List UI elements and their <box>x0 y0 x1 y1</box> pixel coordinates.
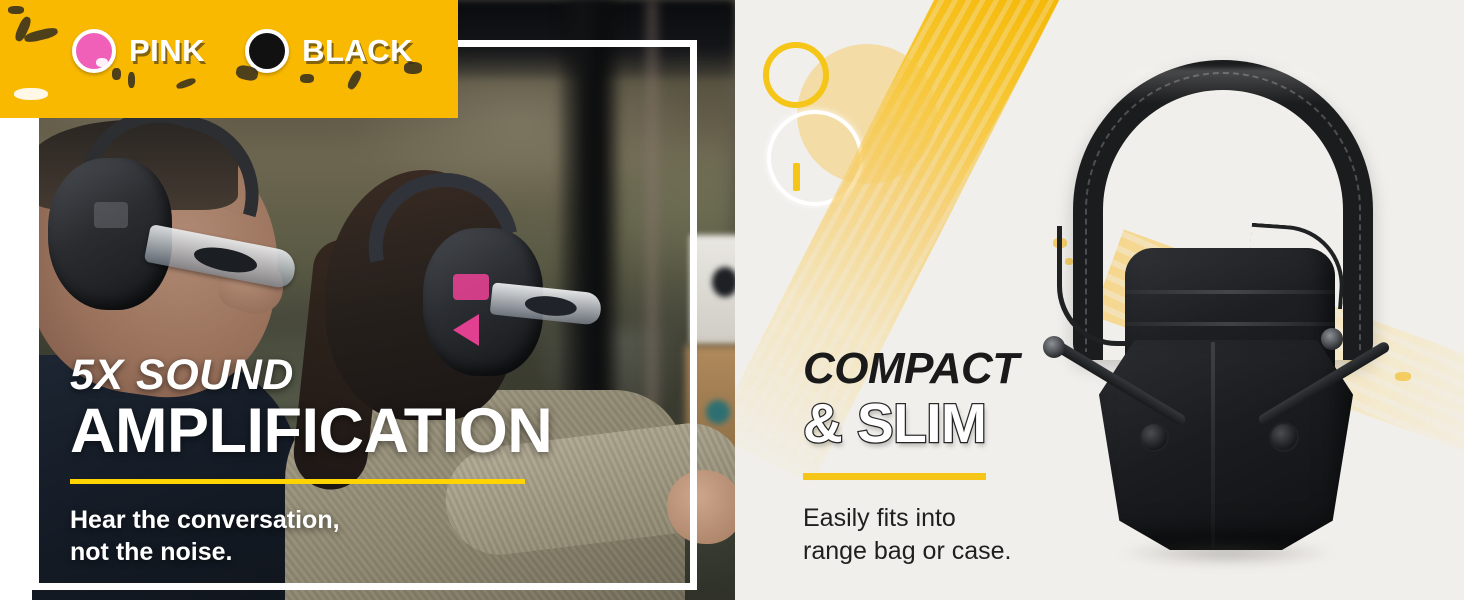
black-color-label: BLACK <box>302 33 413 69</box>
right-headline: & SLIM <box>803 395 1123 453</box>
product-cup-ridge <box>1125 322 1335 326</box>
left-kicker: 5X SOUND <box>70 354 610 397</box>
right-copy-block: COMPACT & SLIM Easily fits into range ba… <box>803 347 1123 568</box>
earmuff-triangle-accent-icon <box>453 314 479 346</box>
right-subtext: Easily fits into range bag or case. <box>803 502 1123 568</box>
color-option-black[interactable]: BLACK <box>245 29 413 73</box>
earmuff-brand-logo <box>453 274 489 300</box>
product-hinge-right <box>1321 328 1343 350</box>
right-subtext-line2: range bag or case. <box>803 537 1011 565</box>
black-color-swatch[interactable] <box>245 29 289 73</box>
left-accent-rule <box>70 479 525 484</box>
yellow-bar <box>793 163 800 191</box>
product-drop-shadow <box>1117 540 1337 566</box>
left-subtext: Hear the conversation, not the noise. <box>70 504 610 568</box>
left-subtext-line1: Hear the conversation, <box>70 506 340 534</box>
product-cup-lower <box>1099 340 1353 550</box>
left-copy-block: 5X SOUND AMPLIFICATION Hear the conversa… <box>70 354 610 568</box>
color-options-banner: PINK BLACK <box>0 0 458 102</box>
product-pivot-right <box>1269 422 1299 452</box>
right-accent-rule <box>803 473 986 480</box>
product-pivot-left <box>1139 422 1169 452</box>
photo-left-white-edge <box>0 100 32 600</box>
product-feature-banner: PINK BLACK 5X SOUND AMPLIFICATION Hear t… <box>0 0 1464 600</box>
woman-hands <box>667 470 735 544</box>
product-cup-seam <box>1211 342 1215 548</box>
right-kicker: COMPACT <box>803 347 1123 391</box>
left-subtext-line2: not the noise. <box>70 538 233 566</box>
product-cup-ridge <box>1125 290 1335 294</box>
color-option-pink[interactable]: PINK <box>72 29 205 73</box>
pink-color-swatch[interactable] <box>72 29 116 73</box>
left-headline: AMPLIFICATION <box>70 399 610 463</box>
product-headband-highlight <box>1117 68 1329 104</box>
yellow-ring <box>763 42 829 108</box>
left-feature-panel: PINK BLACK 5X SOUND AMPLIFICATION Hear t… <box>0 0 735 600</box>
right-subtext-line1: Easily fits into <box>803 504 956 532</box>
pink-color-label: PINK <box>129 33 205 69</box>
